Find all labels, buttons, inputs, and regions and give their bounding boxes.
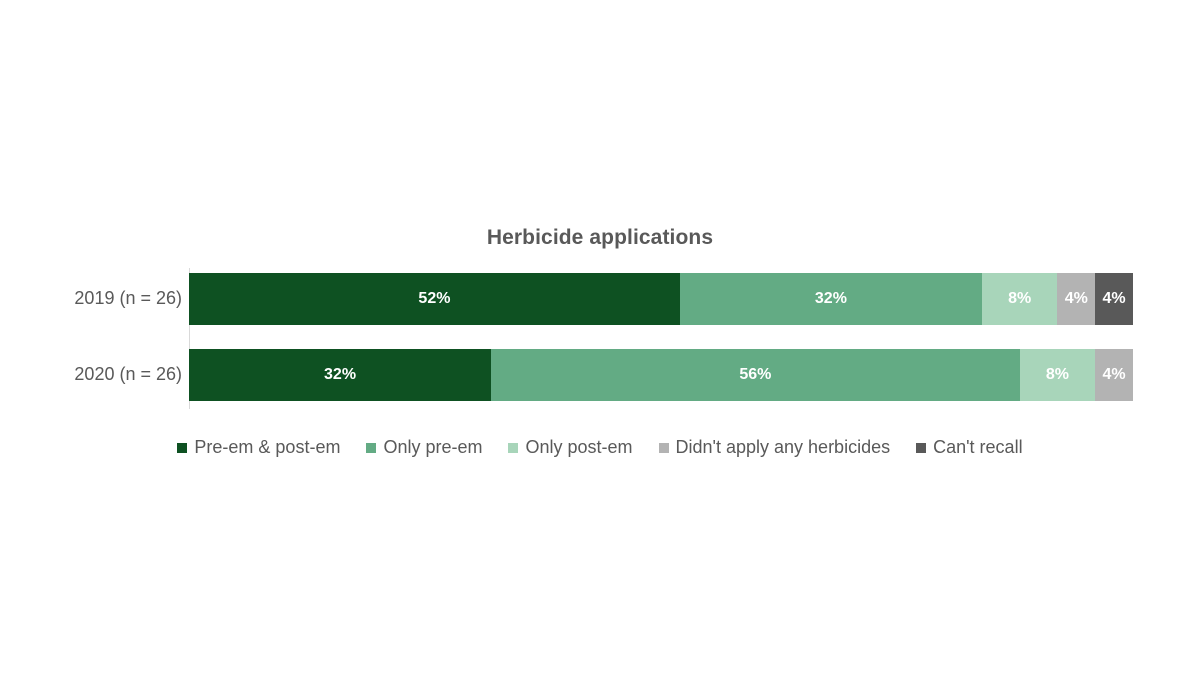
bar-segment-2019-cant-recall[interactable]: 4% xyxy=(1095,273,1133,325)
bar-segment-label: 4% xyxy=(1103,291,1126,307)
bar-row-2020: 32% 56% 8% 4% xyxy=(189,349,1133,401)
bar-segment-2020-pre-em-post-em[interactable]: 32% xyxy=(189,349,491,401)
legend-swatch-pre-em-post-em-icon xyxy=(177,443,187,453)
bar-segment-2019-pre-em-post-em[interactable]: 52% xyxy=(189,273,680,325)
bar-segment-label: 56% xyxy=(739,367,771,383)
plot-area: 52% 32% 8% 4% 4% 32% 56% 8% xyxy=(189,268,1133,409)
legend-item-cant-recall[interactable]: Can't recall xyxy=(916,437,1022,458)
legend-swatch-only-pre-em-icon xyxy=(366,443,376,453)
category-label-2020: 2020 (n = 26) xyxy=(0,364,182,385)
legend-swatch-didnt-apply-icon xyxy=(659,443,669,453)
legend-swatch-only-post-em-icon xyxy=(508,443,518,453)
bar-segment-2019-didnt-apply[interactable]: 4% xyxy=(1057,273,1095,325)
bar-segment-2020-only-post-em[interactable]: 8% xyxy=(1020,349,1096,401)
chart-title: Herbicide applications xyxy=(0,226,1200,250)
legend-label: Didn't apply any herbicides xyxy=(676,437,891,458)
bar-segment-label: 8% xyxy=(1008,291,1031,307)
legend-label: Pre-em & post-em xyxy=(194,437,340,458)
bar-segment-label: 32% xyxy=(815,291,847,307)
bar-segment-label: 4% xyxy=(1065,291,1088,307)
bar-segment-label: 32% xyxy=(324,367,356,383)
bar-segment-2020-only-pre-em[interactable]: 56% xyxy=(491,349,1020,401)
chart-container: Herbicide applications 2019 (n = 26) 202… xyxy=(0,0,1200,675)
legend-item-only-post-em[interactable]: Only post-em xyxy=(508,437,632,458)
bar-segment-2019-only-post-em[interactable]: 8% xyxy=(982,273,1058,325)
chart-legend: Pre-em & post-em Only pre-em Only post-e… xyxy=(0,437,1200,458)
legend-label: Only pre-em xyxy=(383,437,482,458)
bar-segment-2019-only-pre-em[interactable]: 32% xyxy=(680,273,982,325)
category-label-2019: 2019 (n = 26) xyxy=(0,288,182,309)
legend-label: Only post-em xyxy=(525,437,632,458)
legend-item-pre-em-post-em[interactable]: Pre-em & post-em xyxy=(177,437,340,458)
bar-segment-2020-didnt-apply[interactable]: 4% xyxy=(1095,349,1133,401)
bar-segment-label: 52% xyxy=(418,291,450,307)
bar-row-2019: 52% 32% 8% 4% 4% xyxy=(189,273,1133,325)
bar-segment-label: 8% xyxy=(1046,367,1069,383)
legend-item-only-pre-em[interactable]: Only pre-em xyxy=(366,437,482,458)
legend-label: Can't recall xyxy=(933,437,1022,458)
bar-segment-label: 4% xyxy=(1103,367,1126,383)
legend-item-didnt-apply[interactable]: Didn't apply any herbicides xyxy=(659,437,891,458)
legend-swatch-cant-recall-icon xyxy=(916,443,926,453)
